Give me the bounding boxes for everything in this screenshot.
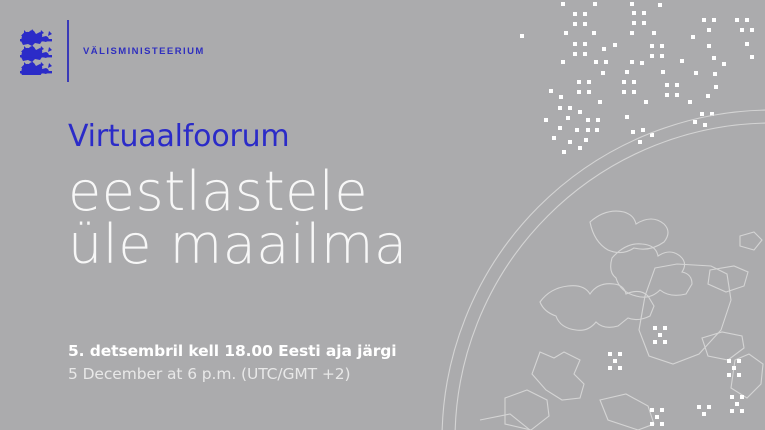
- ministry-logo-lockup[interactable]: VÄLISMINISTEERIUM: [18, 20, 205, 82]
- event-date-estonian: 5. detsembril kell 18.00 Eesti aja järgi: [68, 341, 488, 362]
- virtual-forum-poster: VÄLISMINISTEERIUM Virtuaalfoorum eestlas…: [0, 0, 765, 430]
- headline-line-1: eestlastele: [68, 166, 498, 219]
- page-title: eestlastele üle maailma: [68, 166, 498, 272]
- headline-block: Virtuaalfoorum eestlastele üle maailma: [68, 122, 498, 272]
- estonian-coat-of-arms-icon: [18, 27, 56, 75]
- ministry-name-label: VÄLISMINISTEERIUM: [83, 46, 205, 57]
- event-date-block: 5. detsembril kell 18.00 Eesti aja järgi…: [68, 341, 488, 385]
- event-kicker: Virtuaalfoorum: [68, 122, 498, 152]
- headline-line-2: üle maailma: [68, 219, 498, 272]
- event-date-english: 5 December at 6 p.m. (UTC/GMT +2): [68, 364, 488, 385]
- logo-divider: [67, 20, 69, 82]
